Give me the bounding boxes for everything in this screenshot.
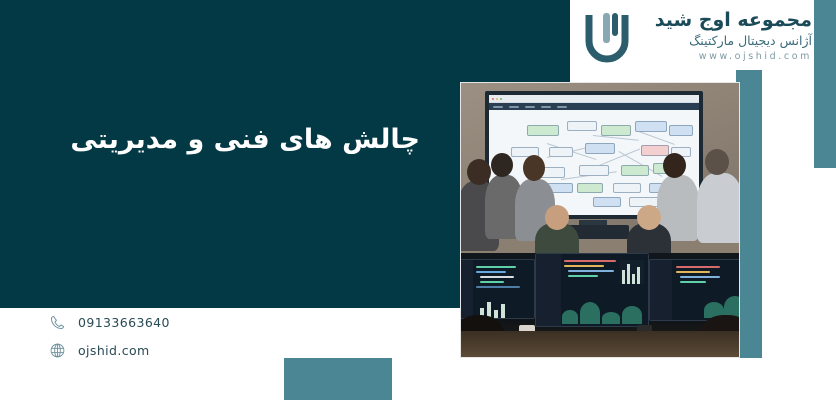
contact-list: 09133663640 ojshid.com <box>48 313 170 360</box>
contact-phone[interactable]: 09133663640 <box>48 313 170 332</box>
photo-desk-area <box>461 253 739 357</box>
photo-monitor <box>535 253 649 327</box>
photo-person <box>523 155 545 181</box>
photo-person <box>467 159 491 185</box>
brand-subtitle: آژانس دیجیتال مارکتینگ <box>644 33 812 49</box>
contact-website-label: ojshid.com <box>78 343 150 358</box>
photo-monitor <box>649 259 739 321</box>
teal-accent-bar-top-right <box>814 0 836 168</box>
photo-person <box>637 205 661 230</box>
phone-icon <box>48 313 67 332</box>
brand-title: مجموعه اوج شید <box>644 10 812 32</box>
photo-monitor <box>461 259 535 319</box>
photo-person <box>697 173 739 243</box>
photo-person <box>545 205 569 230</box>
brand-text-block: مجموعه اوج شید آژانس دیجیتال مارکتینگ ww… <box>644 10 814 62</box>
contact-phone-label: 09133663640 <box>78 315 170 330</box>
photo-person <box>491 153 513 177</box>
photo-person <box>663 153 686 178</box>
brand-logo[interactable]: مجموعه اوج شید آژانس دیجیتال مارکتینگ ww… <box>578 4 814 68</box>
contact-website[interactable]: ojshid.com <box>48 341 170 360</box>
hero-photo <box>460 82 740 358</box>
photo-person <box>705 149 729 175</box>
photo-table-edge <box>461 331 739 357</box>
page-title: چالش های فنی و مدیریتی <box>40 120 420 161</box>
teal-accent-block-bottom <box>284 358 392 400</box>
banner-root: مجموعه اوج شید آژانس دیجیتال مارکتینگ ww… <box>0 0 836 400</box>
globe-icon <box>48 341 67 360</box>
brand-url: www.ojshid.com <box>644 51 812 62</box>
u-monogram-logo-icon <box>578 7 636 65</box>
